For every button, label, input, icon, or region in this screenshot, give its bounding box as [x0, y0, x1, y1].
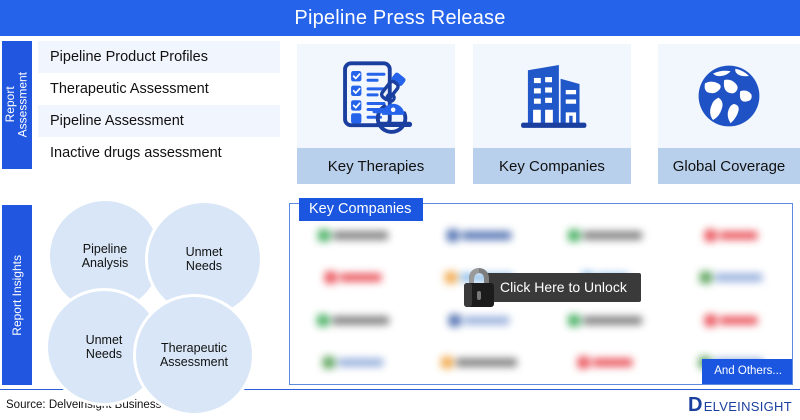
- card-global-coverage[interactable]: Global Coverage: [658, 44, 800, 184]
- list-item-label: Pipeline Product Profiles: [50, 49, 208, 65]
- company-logo-wordmark: [332, 316, 389, 325]
- panel-tab-key-companies: Key Companies: [299, 198, 423, 221]
- company-logo: [568, 229, 642, 241]
- company-logo-mark: [568, 314, 580, 326]
- company-logo-mark: [317, 314, 329, 326]
- venn-circle-label: Pipeline Analysis: [82, 242, 129, 271]
- list-item-label: Therapeutic Assessment: [50, 81, 209, 97]
- sidebar-tab-report-assessment[interactable]: Report Assessment: [2, 41, 32, 169]
- venn-circle-label: Unmet Needs: [86, 333, 123, 362]
- venn-circle-therapeutic-assessment: Therapeutic Assessment: [133, 294, 255, 416]
- company-logo: [441, 357, 517, 369]
- and-others-badge[interactable]: And Others...: [702, 359, 792, 384]
- page-header: Pipeline Press Release: [0, 0, 800, 36]
- globe-icon: [658, 44, 800, 148]
- company-logo-wordmark: [456, 358, 517, 367]
- company-logo: [700, 272, 763, 284]
- company-logo-mark: [449, 314, 461, 326]
- company-logo: [704, 229, 757, 241]
- list-item[interactable]: Pipeline Assessment: [38, 105, 280, 137]
- padlock-icon: [458, 264, 500, 310]
- page-title: Pipeline Press Release: [294, 7, 505, 30]
- company-logo-wordmark: [720, 316, 758, 325]
- company-logo-wordmark: [593, 358, 633, 367]
- company-logo-wordmark: [720, 231, 758, 240]
- card-key-therapies-label: Key Therapies: [297, 148, 455, 184]
- list-item-label: Inactive drugs assessment: [50, 145, 222, 161]
- venn-circle-label: Therapeutic Assessment: [160, 341, 228, 370]
- key-companies-panel: Click Here to Unlock And Others...: [289, 203, 793, 385]
- office-buildings-icon: [473, 44, 631, 148]
- company-logo-wordmark: [583, 316, 642, 325]
- list-item[interactable]: Inactive drugs assessment: [38, 137, 280, 169]
- card-key-companies-label: Key Companies: [473, 148, 631, 184]
- panel-tab-label: Key Companies: [309, 201, 411, 217]
- company-logo-wordmark: [462, 231, 511, 240]
- list-item[interactable]: Pipeline Product Profiles: [38, 41, 280, 73]
- company-logo: [318, 229, 388, 241]
- report-assessment-list: Pipeline Product Profiles Therapeutic As…: [38, 41, 280, 169]
- company-logo-mark: [447, 229, 459, 241]
- company-logo: [317, 314, 389, 326]
- venn-circle-label: Unmet Needs: [186, 245, 223, 274]
- card-global-coverage-label: Global Coverage: [658, 148, 800, 184]
- brand-initial: D: [688, 395, 703, 415]
- company-logo-wordmark: [338, 358, 384, 367]
- card-key-companies[interactable]: Key Companies: [473, 44, 631, 184]
- company-logo: [704, 314, 757, 326]
- sidebar-tab-report-insights[interactable]: Report Insights: [2, 205, 32, 385]
- card-key-therapies[interactable]: Key Therapies: [297, 44, 455, 184]
- company-logo: [447, 229, 512, 241]
- company-logo-mark: [318, 229, 330, 241]
- company-logo: [449, 314, 510, 326]
- company-logo: [577, 357, 632, 369]
- company-logo-mark: [323, 357, 335, 369]
- sidebar-tab-report-insights-label: Report Insights: [11, 255, 24, 336]
- company-logo: [568, 314, 642, 326]
- company-logo-mark: [441, 357, 453, 369]
- company-logo-mark: [704, 314, 716, 326]
- clipboard-microscope-icon: [297, 44, 455, 148]
- list-item[interactable]: Therapeutic Assessment: [38, 73, 280, 105]
- company-logo-mark: [325, 272, 337, 284]
- unlock-tooltip[interactable]: Click Here to Unlock: [486, 273, 641, 302]
- company-logo-wordmark: [715, 273, 763, 282]
- company-logo: [323, 357, 384, 369]
- company-logo: [325, 272, 382, 284]
- company-logo-mark: [445, 272, 457, 284]
- company-logo-wordmark: [333, 231, 388, 240]
- brand-wordmark: ELVEINSIGHT: [704, 399, 792, 414]
- company-logo-mark: [704, 229, 716, 241]
- list-item-label: Pipeline Assessment: [50, 113, 184, 129]
- company-logo-wordmark: [583, 231, 642, 240]
- report-insights-venn: Pipeline Analysis Unmet Needs Unmet Need…: [45, 196, 277, 386]
- company-logo-wordmark: [340, 273, 382, 282]
- company-logo-mark: [577, 357, 589, 369]
- sidebar-tab-report-assessment-label: Report Assessment: [4, 72, 29, 137]
- delveinsight-logo: D ELVEINSIGHT: [688, 395, 792, 415]
- unlock-overlay[interactable]: Click Here to Unlock: [458, 264, 641, 310]
- company-logo-mark: [568, 229, 580, 241]
- company-logo-wordmark: [464, 316, 510, 325]
- company-logo-mark: [700, 272, 712, 284]
